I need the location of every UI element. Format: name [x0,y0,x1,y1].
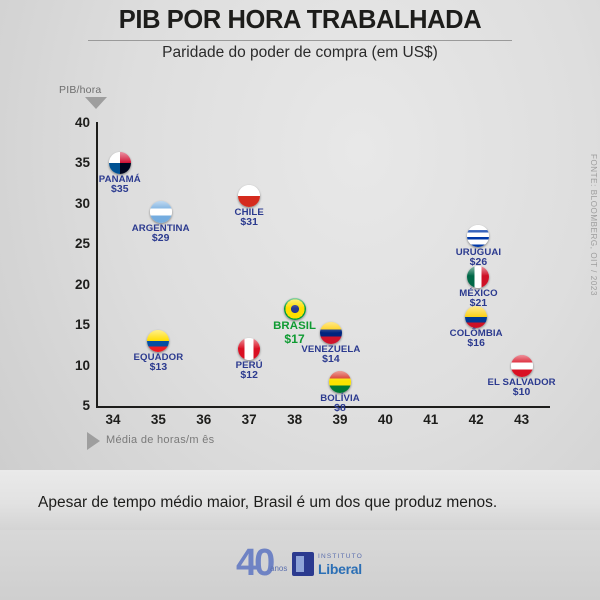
logo-book-icon [292,552,314,576]
country-value: $10 [460,388,584,399]
y-tick-15: 15 [56,317,90,332]
infographic-root: PIB POR HORA TRABALHADA Paridade do pode… [0,0,600,600]
data-point-label: BOLÍVIA$8 [278,394,402,415]
logo-number: 40 [236,544,272,582]
logo-anos-label: anos [270,564,287,573]
data-point-label: EL SALVADOR$10 [460,378,584,399]
y-tick-25: 25 [56,236,90,251]
x-tick-37: 37 [227,412,271,427]
country-value: $35 [58,185,182,196]
x-tick-42: 42 [454,412,498,427]
country-value: $31 [187,218,311,229]
country-value: $16 [414,339,538,350]
x-tick-34: 34 [91,412,135,427]
data-point-label: CHILE$31 [187,208,311,229]
country-name: BRASIL [273,320,316,332]
flag-icon [109,152,131,174]
y-tick-20: 20 [56,277,90,292]
country-name: EL SALVADOR [487,377,555,388]
y-tick-30: 30 [56,196,90,211]
x-tick-36: 36 [182,412,226,427]
data-point-label: PERÚ$12 [187,361,311,382]
source-note: FONTE: BLOOMBERG, OIT / 2023 [589,154,598,296]
y-tick-40: 40 [56,115,90,130]
country-value: $8 [278,404,402,415]
flag-icon [511,355,533,377]
flag-icon [150,201,172,223]
country-value: $12 [187,371,311,382]
logo-instituto-label: INSTITUTO [318,553,363,560]
flag-icon [320,322,342,344]
x-tick-41: 41 [409,412,453,427]
instituto-liberal-logo[interactable]: 40 anos INSTITUTO Liberal [236,546,376,586]
flag-icon [467,266,489,288]
y-tick-5: 5 [56,398,90,413]
data-point-label: COLÔMBIA$16 [414,329,538,350]
flag-icon [284,298,306,320]
flag-icon [147,330,169,352]
logo-liberal-label: Liberal [318,561,362,577]
flag-icon [467,225,489,247]
x-tick-43: 43 [500,412,544,427]
flag-icon [465,306,487,328]
flag-icon [238,185,260,207]
y-tick-35: 35 [56,155,90,170]
flag-icon [329,371,351,393]
country-name: CHILE [235,207,264,218]
country-name: MÉXICO [459,288,497,299]
x-tick-35: 35 [136,412,180,427]
data-point-label: PANAMÁ$35 [58,175,182,196]
country-value: $29 [99,234,223,245]
flag-icon [238,338,260,360]
caption-text: Apesar de tempo médio maior, Brasil é um… [38,494,497,512]
y-tick-10: 10 [56,358,90,373]
